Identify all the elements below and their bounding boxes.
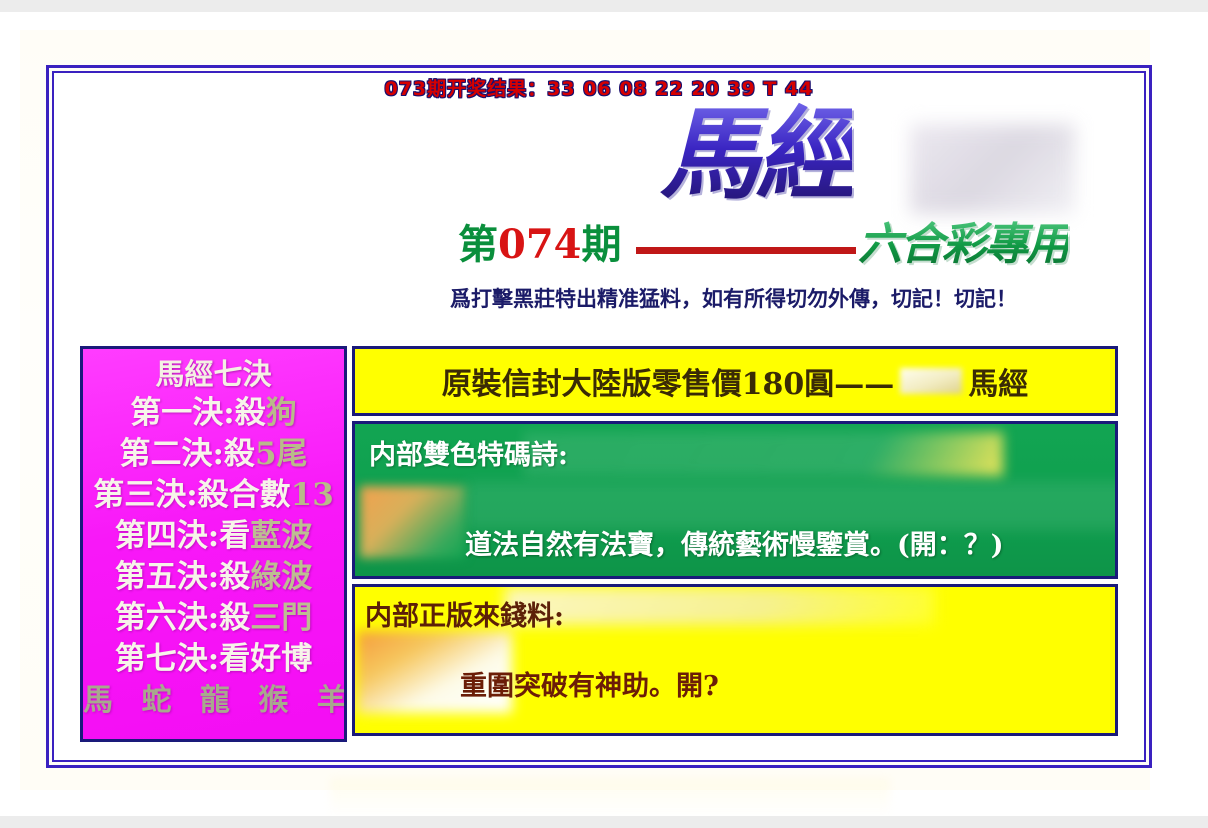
- decision-row-4: 第四決:看藍波: [83, 516, 344, 557]
- seven-decisions-title: 馬經七決: [83, 355, 344, 393]
- decision-label-4: 第四決:看: [115, 518, 250, 554]
- decision-label-2: 第二決:殺: [119, 436, 254, 472]
- decision-row-1: 第一決:殺狗: [83, 393, 344, 434]
- decision-label-6: 第六決:殺: [115, 600, 250, 636]
- decision-row-5: 第五決:殺綠波: [83, 557, 344, 598]
- decision-value-4: 藍波: [250, 518, 312, 554]
- special-code-poem: 道法自然有法寶，傳統藝術慢鑒賞。(開：？): [465, 528, 1115, 564]
- green-blur-right: [523, 432, 1003, 476]
- decision-row-7: 第七決:看好博: [83, 639, 344, 680]
- money-tip-label: 内部正版來錢料:: [365, 599, 564, 635]
- decision-value-2: 5尾: [255, 436, 308, 472]
- footer-faded-artifact: [330, 778, 890, 818]
- masthead: 馬經 第074期 六合彩專用 爲打擊黑莊特出精准猛料，如有所得切勿外傳，切記！切…: [430, 102, 1146, 342]
- special-code-poem-band: 内部雙色特碼詩: 道法自然有法寶，傳統藝術慢鑒賞。(開：？): [352, 421, 1118, 579]
- price-text-before: 原裝信封大陸版零售價180圓——: [442, 359, 895, 403]
- issue-number: 074: [498, 221, 582, 268]
- decision-value-3: 13: [291, 477, 334, 513]
- decision-row-6: 第六決:殺三門: [83, 598, 344, 639]
- issue-divider-rule: [636, 247, 856, 254]
- logo-blur-block: [910, 124, 1075, 214]
- price-text-after: 馬經: [968, 359, 1028, 403]
- issue-label: 第074期: [458, 220, 622, 270]
- decision-row-2: 第二決:殺5尾: [83, 434, 344, 475]
- site-logo-title: 馬經: [660, 102, 852, 206]
- issue-subtitle: 六合彩專用: [858, 218, 1068, 272]
- zodiac-row: 馬 蛇 龍 猴 羊: [83, 680, 344, 722]
- decision-label-1: 第一決:殺: [130, 395, 265, 431]
- right-column: 原裝信封大陸版零售價180圓—— 馬經 内部雙色特碼詩: 道法自然有法寶，傳統藝…: [352, 346, 1118, 742]
- bottom-chrome-bar: [0, 816, 1208, 828]
- decision-value-6: 三門: [250, 600, 312, 636]
- decision-value-7: 好博: [250, 641, 312, 677]
- masthead-slogan: 爲打擊黑莊特出精准猛料，如有所得切勿外傳，切記！切記！: [450, 284, 1146, 314]
- green-blur-mid: [465, 482, 1118, 530]
- money-tip-poem: 重圍突破有神助。開?: [460, 669, 719, 705]
- decision-value-5: 綠波: [250, 559, 312, 595]
- decision-label-3: 第三決:殺合數: [93, 477, 290, 513]
- draw-result-line: 073期开奖结果：33 06 08 22 20 39 T 44: [52, 74, 1146, 100]
- page-canvas: 073期开奖结果：33 06 08 22 20 39 T 44 馬經 第074期…: [0, 12, 1208, 828]
- seven-decisions-panel: 馬經七決 第一決:殺狗 第二決:殺5尾 第三決:殺合數13 第四決:看藍波 第五…: [80, 346, 347, 742]
- price-band: 原裝信封大陸版零售價180圓—— 馬經: [352, 346, 1118, 416]
- top-chrome-bar: [0, 0, 1208, 12]
- price-blur-block: [900, 368, 962, 394]
- special-code-label: 内部雙色特碼詩:: [369, 438, 568, 474]
- decision-row-3: 第三決:殺合數13: [83, 475, 344, 516]
- decision-value-1: 狗: [266, 395, 297, 431]
- price-line: 原裝信封大陸版零售價180圓—— 馬經: [355, 349, 1115, 413]
- decision-label-7: 第七決:看: [115, 641, 250, 677]
- green-blur-left: [360, 486, 465, 558]
- decision-label-5: 第五決:殺: [115, 559, 250, 595]
- issue-prefix: 第: [458, 221, 498, 268]
- issue-row: 第074期 六合彩專用: [458, 220, 1146, 276]
- issue-suffix: 期: [582, 221, 622, 268]
- money-tip-band: 内部正版來錢料: 重圍突破有神助。開?: [352, 584, 1118, 736]
- yellow-blur-right: [505, 587, 935, 625]
